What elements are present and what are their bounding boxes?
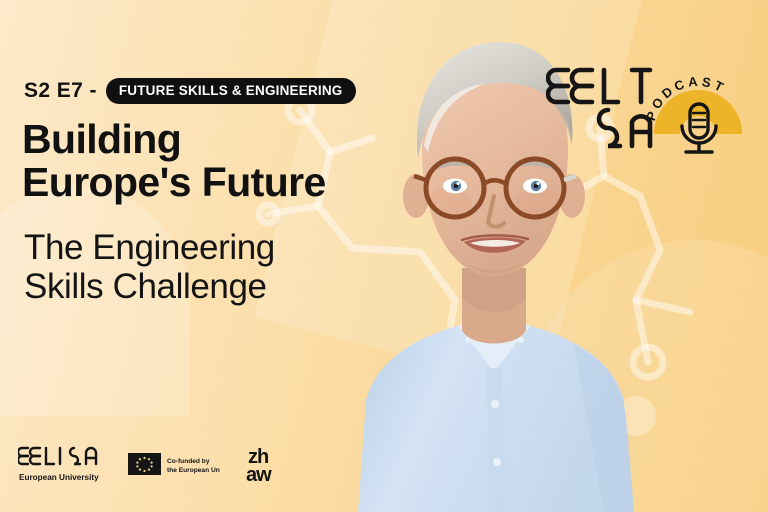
portrait-torso [358, 318, 634, 512]
episode-subtitle: The Engineering Skills Challenge [24, 228, 354, 306]
eu-text-line-1: Co-funded by [167, 458, 210, 465]
episode-row: S2 E7 - FUTURE SKILLS & ENGINEERING [24, 78, 356, 104]
partner-logos: European University Co-funded by the Eur… [18, 442, 288, 486]
eelisa-monogram [548, 70, 650, 146]
portrait-neck [462, 268, 526, 344]
eelisa-tagline: European University [19, 473, 99, 482]
eu-cofunded-logo: Co-funded by the European Union [128, 450, 220, 478]
episode-subtitle-line-1: The Engineering [24, 228, 354, 267]
zhaw-logo: zh aw [246, 442, 288, 486]
podcast-episode-poster: S2 E7 - FUTURE SKILLS & ENGINEERING Buil… [0, 0, 768, 512]
zhaw-line-2: aw [246, 464, 272, 486]
topic-badge: FUTURE SKILLS & ENGINEERING [106, 78, 356, 104]
episode-title-line-2: Europe's Future [22, 161, 362, 204]
eelisa-podcast-logo: PODCAST [546, 48, 756, 160]
eu-text-line-2: the European Union [167, 467, 220, 474]
eelisa-university-logo: European University [18, 442, 102, 486]
episode-title-line-1: Building [22, 118, 362, 161]
episode-title: Building Europe's Future [22, 118, 362, 205]
podcast-arc: PODCAST [643, 74, 742, 134]
episode-subtitle-line-2: Skills Challenge [24, 267, 354, 306]
episode-code: S2 E7 - [24, 79, 97, 103]
